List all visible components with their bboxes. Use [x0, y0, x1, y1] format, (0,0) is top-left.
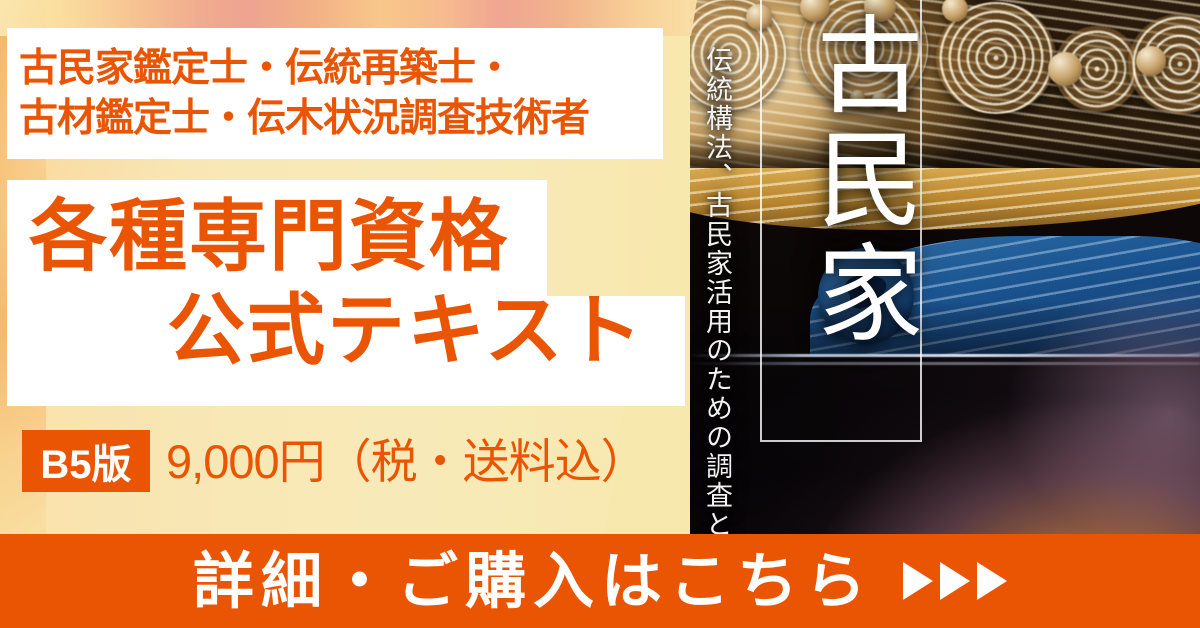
cta-label: 詳細・ご購入はこちら: [193, 551, 873, 612]
cta-bar[interactable]: 詳細・ご購入はこちら: [0, 534, 1200, 628]
certifications-text: 古民家鑑定士・伝統再築士・ 古材鑑定士・伝木状況調査技術者: [7, 44, 589, 144]
headline-line-2: 公式テキスト: [167, 284, 645, 378]
size-badge: B5版: [22, 430, 150, 492]
price-text: 9,000円（税・送料込）: [166, 432, 647, 492]
triangle-right-icon: [940, 562, 970, 600]
triangle-right-icon: [977, 562, 1007, 600]
banner-root: 古民家 伝統構法、古民家活用のための調査と再生の 古民家鑑定士・伝統再築士・ 古…: [0, 0, 1200, 628]
certifications-card: 古民家鑑定士・伝統再築士・ 古材鑑定士・伝木状況調査技術者: [7, 28, 663, 159]
triangle-right-icon: [903, 562, 933, 600]
wood-bead: [1136, 46, 1166, 76]
book-cover-image: 古民家 伝統構法、古民家活用のための調査と再生の: [690, 0, 1200, 560]
cover-subtitle: 伝統構法、古民家活用のための調査と再生の: [700, 46, 734, 560]
cover-title: 古民家: [760, 10, 922, 352]
wood-bead: [1048, 52, 1082, 86]
cta-arrows: [903, 562, 1007, 600]
headline-line-1: 各種専門資格: [29, 190, 509, 284]
